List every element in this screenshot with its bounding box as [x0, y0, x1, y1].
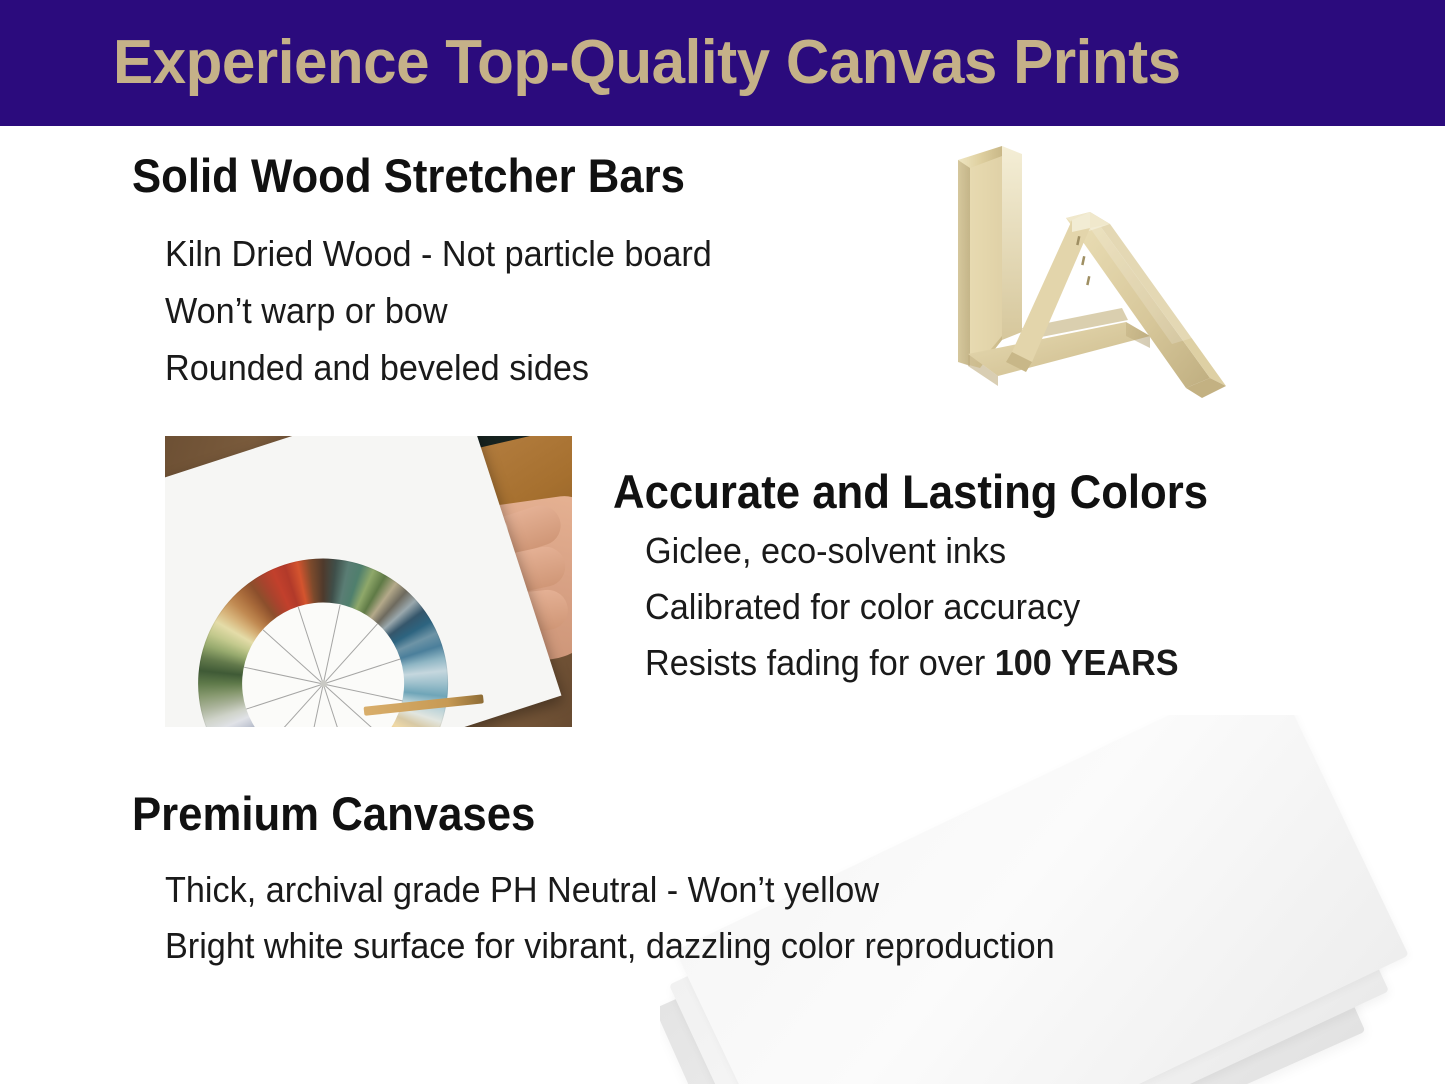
wheel-spoke — [323, 684, 402, 702]
header-banner: Experience Top-Quality Canvas Prints — [0, 0, 1445, 126]
section-heading-solid-wood-stretcher-bars: Solid Wood Stretcher Bars — [132, 152, 685, 199]
wood-stretcher-bars-photo — [950, 140, 1240, 405]
bullet-resists-fading-emphasis: 100 YEARS — [995, 642, 1179, 683]
bullet-rounded-beveled-sides: Rounded and beveled sides — [165, 350, 589, 386]
bullet-resists-fading: Resists fading for over 100 YEARS — [645, 645, 1179, 681]
bullet-thick-archival-ph-neutral: Thick, archival grade PH Neutral - Won’t… — [165, 872, 879, 908]
bullet-kiln-dried-wood: Kiln Dried Wood - Not particle board — [165, 236, 712, 272]
bullet-calibrated-for-color-accuracy: Calibrated for color accuracy — [645, 589, 1080, 625]
section-heading-accurate-and-lasting-colors: Accurate and Lasting Colors — [613, 468, 1208, 515]
color-wheel-ring — [166, 526, 481, 727]
page-title: Experience Top-Quality Canvas Prints — [113, 32, 1181, 94]
canvas-panel-bottom — [660, 748, 1365, 1084]
color-wheel-chart-photo — [165, 436, 572, 727]
section-heading-premium-canvases: Premium Canvases — [132, 790, 535, 837]
bullet-resists-fading-prefix: Resists fading for over — [645, 642, 995, 683]
wheel-spoke — [306, 684, 324, 727]
canvas-prints-infographic: Experience Top-Quality Canvas Prints Sol… — [0, 0, 1445, 1084]
wheel-spoke — [244, 667, 323, 685]
wheel-spoke — [323, 684, 349, 727]
bullet-bright-white-surface: Bright white surface for vibrant, dazzli… — [165, 928, 1055, 964]
bullet-giclee-eco-solvent-inks: Giclee, eco-solvent inks — [645, 533, 1006, 569]
bullet-wont-warp-or-bow: Won’t warp or bow — [165, 293, 448, 329]
